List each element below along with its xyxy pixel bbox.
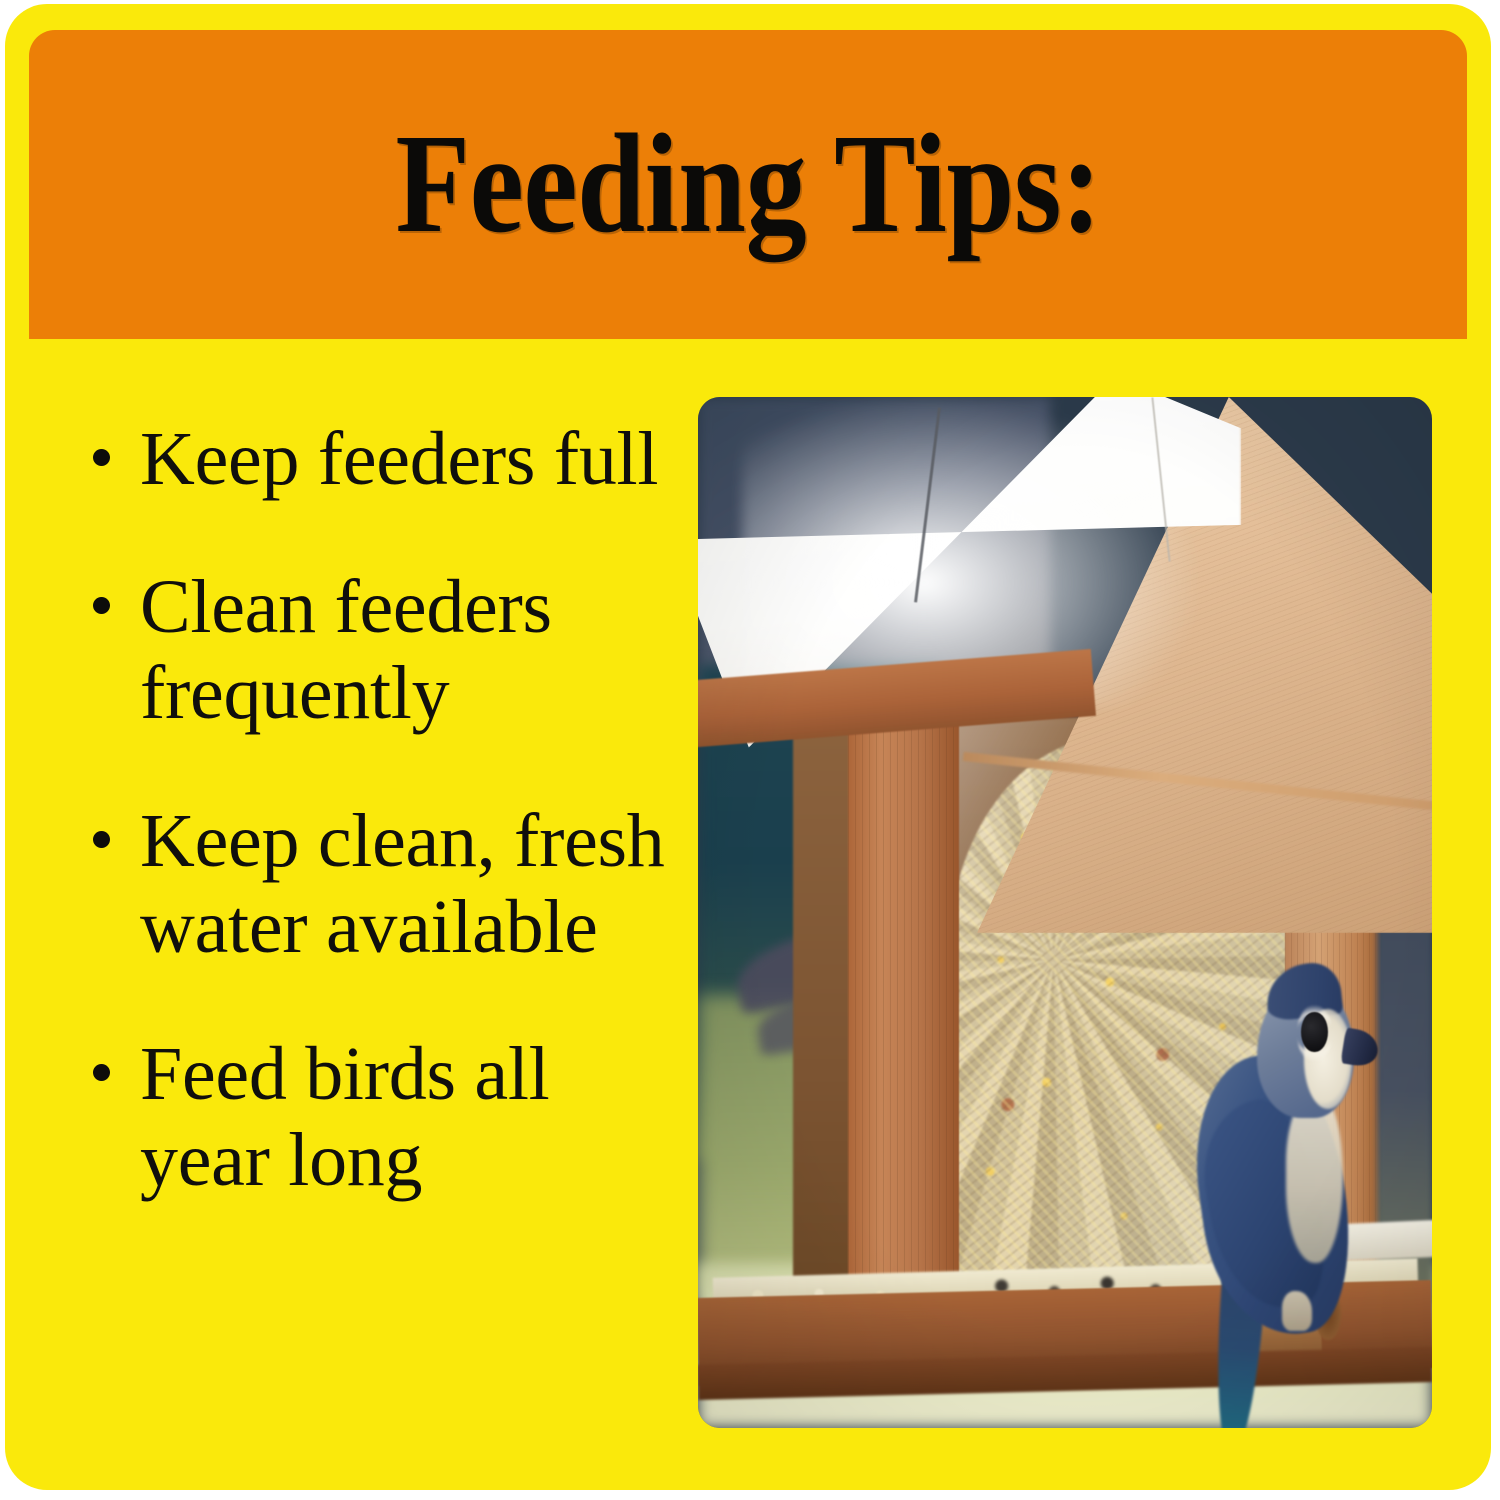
header-band: Feeding Tips: — [29, 30, 1467, 339]
list-item: Keep clean, fresh water available — [93, 799, 683, 971]
bird-foot — [1282, 1291, 1313, 1332]
bullet-icon — [93, 831, 110, 848]
list-item: Feed birds all year long — [93, 1032, 683, 1204]
perched-bird — [1182, 964, 1402, 1418]
bullet-icon — [93, 1064, 110, 1081]
wood-grain — [848, 696, 958, 1335]
yellow-card: Feeding Tips: Keep feeders full Clean fe… — [5, 4, 1491, 1490]
content-area: Keep feeders full Clean feeders frequent… — [5, 339, 1491, 1490]
list-item: Keep feeders full — [93, 417, 683, 503]
tip-text: Feed birds all year long — [140, 1032, 683, 1204]
tip-text: Keep feeders full — [140, 417, 683, 503]
page-title: Feeding Tips: — [395, 112, 1101, 254]
tip-text: Keep clean, fresh water available — [140, 799, 683, 971]
poster: Feeding Tips: Keep feeders full Clean fe… — [0, 0, 1500, 1500]
bird-feeder-photo — [698, 397, 1432, 1428]
tips-list: Keep feeders full Clean feeders frequent… — [93, 417, 683, 1204]
bullet-icon — [93, 597, 110, 614]
photo-composition — [698, 397, 1432, 1428]
tip-text: Clean feeders frequently — [140, 565, 683, 737]
bird-eye — [1301, 1012, 1327, 1053]
bird-beak — [1341, 1027, 1381, 1068]
bullet-icon — [93, 449, 110, 466]
list-item: Clean feeders frequently — [93, 565, 683, 737]
